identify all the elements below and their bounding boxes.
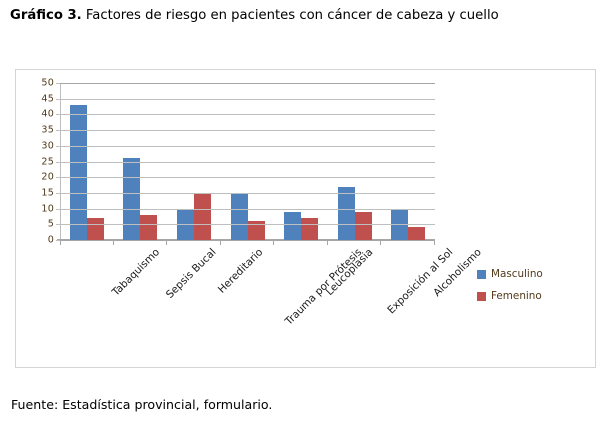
bar-femenino[interactable] [301,218,318,240]
x-axis-labels: TabaquismoSepsis BucalHereditarioTrauma … [60,242,435,342]
legend-item[interactable]: Femenino [477,285,543,307]
chart-legend: MasculinoFemenino [477,263,543,307]
legend-swatch-icon [477,270,486,279]
y-axis-tick-mark [56,162,60,163]
bar-femenino[interactable] [355,212,372,240]
y-axis: 50454035302520151050 [30,83,54,240]
figure-caption-label: Gráfico 3. [10,8,82,23]
gridline [60,209,435,210]
y-axis-tick-mark [56,146,60,147]
legend-item[interactable]: Masculino [477,263,543,285]
bar-masculino[interactable] [231,193,248,240]
y-axis-tick-mark [56,130,60,131]
y-axis-tick-mark [56,224,60,225]
chart-container: 50454035302520151050 TabaquismoSepsis Bu… [15,69,596,368]
gridline [60,83,435,84]
y-axis-tick-label: 5 [48,219,54,230]
y-axis-tick-mark [56,99,60,100]
y-axis-tick-label: 15 [41,187,54,198]
gridline [60,99,435,100]
x-axis-label: Hereditario [216,246,266,296]
y-axis-tick-label: 40 [41,109,54,120]
y-axis-tick-mark [56,209,60,210]
bar-masculino[interactable] [284,212,301,240]
y-axis-tick-mark [56,240,60,241]
y-axis-tick-mark [56,193,60,194]
gridline [60,114,435,115]
bar-masculino[interactable] [70,105,87,240]
y-axis-tick-mark [56,83,60,84]
x-axis-label: Tabaquismo [110,246,162,298]
y-axis-tick-label: 20 [41,172,54,183]
chart-plot-wrapper: 50454035302520151050 TabaquismoSepsis Bu… [16,70,595,367]
gridline [60,224,435,225]
figure-caption: Gráfico 3. Factores de riesgo en pacient… [10,6,602,25]
bar-femenino[interactable] [408,227,425,240]
figure-caption-text: Factores de riesgo en pacientes con cánc… [86,8,499,23]
y-axis-tick-label: 35 [41,125,54,136]
source-note: Fuente: Estadística provincial, formular… [11,397,272,412]
x-axis-label: Sepsis Bucal [164,246,219,301]
y-axis-tick-label: 30 [41,140,54,151]
legend-item-label: Masculino [491,268,543,280]
bar-masculino[interactable] [338,187,355,240]
x-axis-label: Trauma por Prótesis [282,246,363,327]
plot-area [60,83,435,240]
gridline [60,177,435,178]
y-axis-tick-label: 0 [48,235,54,246]
gridline [60,162,435,163]
legend-item-label: Femenino [491,290,542,302]
y-axis-tick-mark [56,114,60,115]
y-axis-tick-mark [56,177,60,178]
y-axis-tick-label: 45 [41,93,54,104]
y-axis-tick-label: 10 [41,203,54,214]
bar-femenino[interactable] [140,215,157,240]
gridline [60,146,435,147]
bar-femenino[interactable] [87,218,104,240]
gridline [60,130,435,131]
legend-swatch-icon [477,292,486,301]
bar-masculino[interactable] [123,158,140,240]
gridline [60,193,435,194]
y-axis-tick-label: 25 [41,156,54,167]
bar-femenino[interactable] [194,193,211,240]
y-axis-tick-label: 50 [41,78,54,89]
